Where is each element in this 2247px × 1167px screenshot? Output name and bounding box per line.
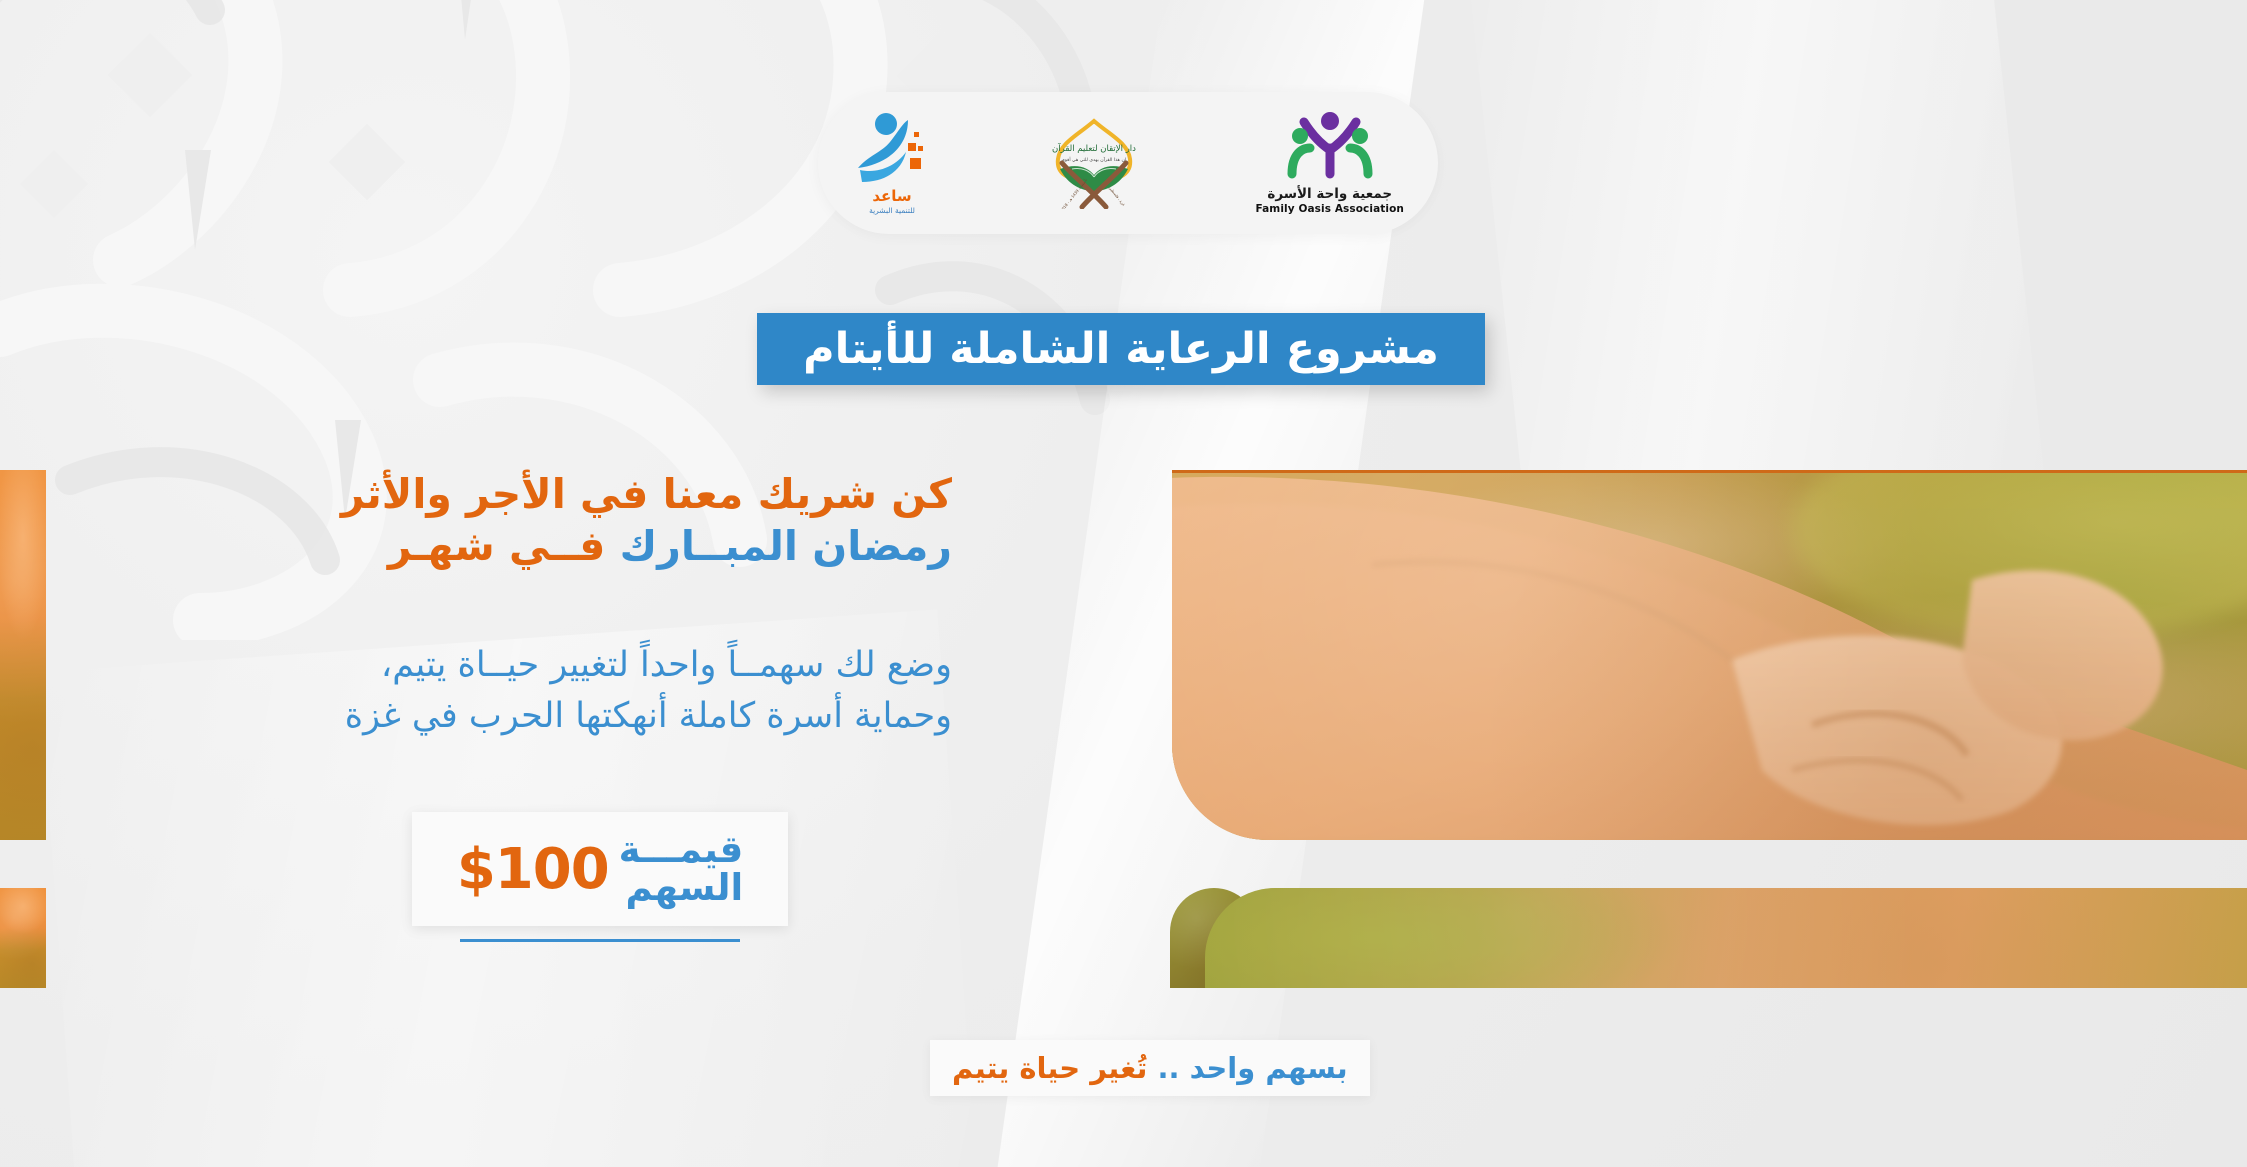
svg-text:غزة ، فلسطين: غزة ، فلسطين (1108, 185, 1126, 206)
photo-left-edge-bottom (0, 888, 46, 988)
tagline-text: بسهم واحد .. تُغير حياة يتيم (952, 1051, 1348, 1085)
headline-line-2: رمضان المبــارك فــي شهـر (252, 522, 952, 570)
logo-family-oasis-name-en: Family Oasis Association (1255, 203, 1404, 215)
title-banner-text: مشروع الرعاية الشاملة للأيتام (803, 328, 1439, 371)
poster-canvas: ساعد للتنمية البشرية دار الإتقان لتعليم … (0, 0, 2247, 1167)
main-photo-hands (1172, 470, 2247, 840)
headline-block: كن شريك معنا في الأجر والأثر رمضان المبـ… (252, 470, 952, 571)
tagline-blue-part: بسهم واحد .. (1147, 1051, 1347, 1085)
svg-text:دار الإتقان لتعليم القرآن: دار الإتقان لتعليم القرآن (1052, 142, 1136, 154)
photo-strip-bottom (1205, 888, 2247, 988)
title-banner: مشروع الرعاية الشاملة للأيتام (757, 313, 1485, 385)
logo-dar-al-itqan[interactable]: دار الإتقان لتعليم القرآن إن هذا القرآن … (1048, 117, 1140, 209)
photo-left-edge (0, 470, 46, 840)
logo-saaed[interactable]: ساعد للتنمية البشرية (852, 112, 932, 215)
running-person-logo-icon (852, 112, 932, 186)
logo-saaed-tagline: للتنمية البشرية (869, 206, 915, 215)
logo-family-oasis-name-ar: جمعية واحة الأسرة (1267, 186, 1392, 202)
price-box: قيمـــة السهم $100 (370, 812, 830, 947)
photo-top-border (1172, 470, 2247, 473)
body-text-line-1: وضع لك سهمــاً واحداً لتغيير حيــاة يتيم… (162, 640, 952, 691)
quran-book-arch-logo-icon: دار الإتقان لتعليم القرآن إن هذا القرآن … (1048, 117, 1140, 209)
body-text-line-2: وحماية أسرة كاملة أنهكتها الحرب في غزة (162, 691, 952, 742)
price-box-label-line-1: قيمـــة (619, 831, 744, 869)
headline-line-2-orange: فــي شهـر (388, 522, 606, 570)
logo-strip: ساعد للتنمية البشرية دار الإتقان لتعليم … (818, 92, 1438, 234)
tagline-bar: بسهم واحد .. تُغير حياة يتيم (930, 1040, 1370, 1096)
price-box-card: قيمـــة السهم $100 (412, 812, 788, 926)
svg-text:إن هذا القرآن يهدي للتي هي أقو: إن هذا القرآن يهدي للتي هي أقوم (1062, 156, 1127, 163)
body-text-block: وضع لك سهمــاً واحداً لتغيير حيــاة يتيم… (162, 640, 952, 742)
tagline-orange-part: تُغير حياة يتيم (952, 1051, 1147, 1085)
price-box-label-line-2: السهم (619, 869, 744, 907)
logo-saaed-name: ساعد (872, 187, 911, 205)
headline-line-1: كن شريك معنا في الأجر والأثر (252, 470, 952, 518)
price-box-amount: $100 (457, 837, 609, 902)
logo-family-oasis[interactable]: جمعية واحة الأسرة Family Oasis Associati… (1255, 112, 1404, 215)
price-box-label: قيمـــة السهم (619, 831, 744, 906)
headline-line-2-blue: رمضان المبــارك (620, 522, 952, 570)
three-people-logo-icon (1284, 112, 1376, 182)
